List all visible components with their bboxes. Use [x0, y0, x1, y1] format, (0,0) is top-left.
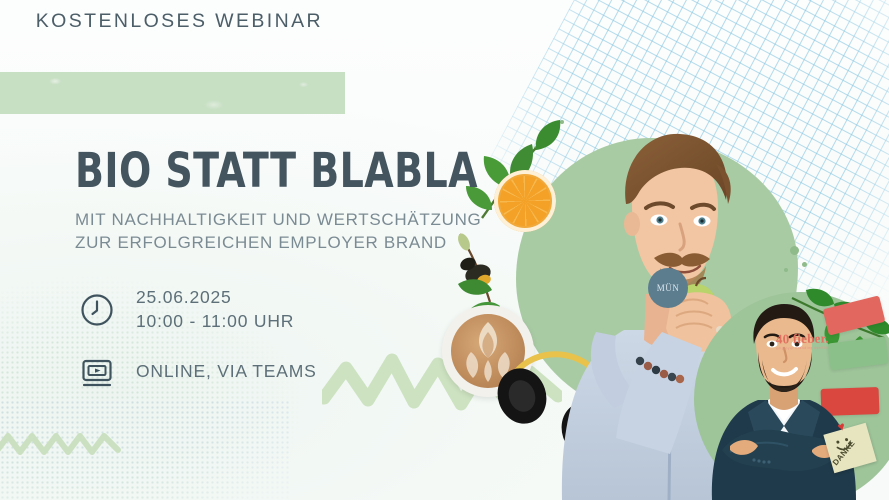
- event-detail-location: ONLINE, VIA TEAMS: [80, 355, 317, 389]
- brand-name: 40 fieber.: [776, 332, 829, 346]
- video-player-icon: [80, 355, 114, 389]
- brand-logo: 40 fieber. employer branding agentur: [776, 332, 829, 351]
- event-detail-datetime: 25.06.2025 10:00 - 11:00 UHR: [80, 286, 317, 333]
- subtitle-line-2: ZUR ERFOLGREICHEN EMPLOYER BRAND: [75, 233, 447, 252]
- free-webinar-banner: [0, 72, 345, 114]
- clock-icon: [80, 293, 114, 327]
- page-title: BIO STATT BLABLA: [75, 147, 478, 195]
- hoodie-logo-badge: MÜN: [648, 268, 688, 308]
- page-subtitle: MIT NACHHALTIGKEIT UND WERTSCHÄTZUNG ZUR…: [75, 209, 481, 255]
- event-details: 25.06.2025 10:00 - 11:00 UHR ONLINE, VIA…: [80, 286, 317, 389]
- event-time: 10:00 - 11:00 UHR: [136, 311, 294, 331]
- event-date: 25.06.2025: [136, 287, 232, 307]
- hoodie-logo-text: MÜN: [657, 283, 680, 293]
- location-text: ONLINE, VIA TEAMS: [136, 360, 317, 384]
- subtitle-line-1: MIT NACHHALTIGKEIT UND WERTSCHÄTZUNG: [75, 210, 481, 229]
- datetime-text: 25.06.2025 10:00 - 11:00 UHR: [136, 286, 294, 333]
- webinar-promo-poster: MÜN: [0, 0, 889, 500]
- free-webinar-label: KOSTENLOSES WEBINAR: [0, 0, 345, 42]
- zigzag-brushstroke-small: [0, 428, 124, 462]
